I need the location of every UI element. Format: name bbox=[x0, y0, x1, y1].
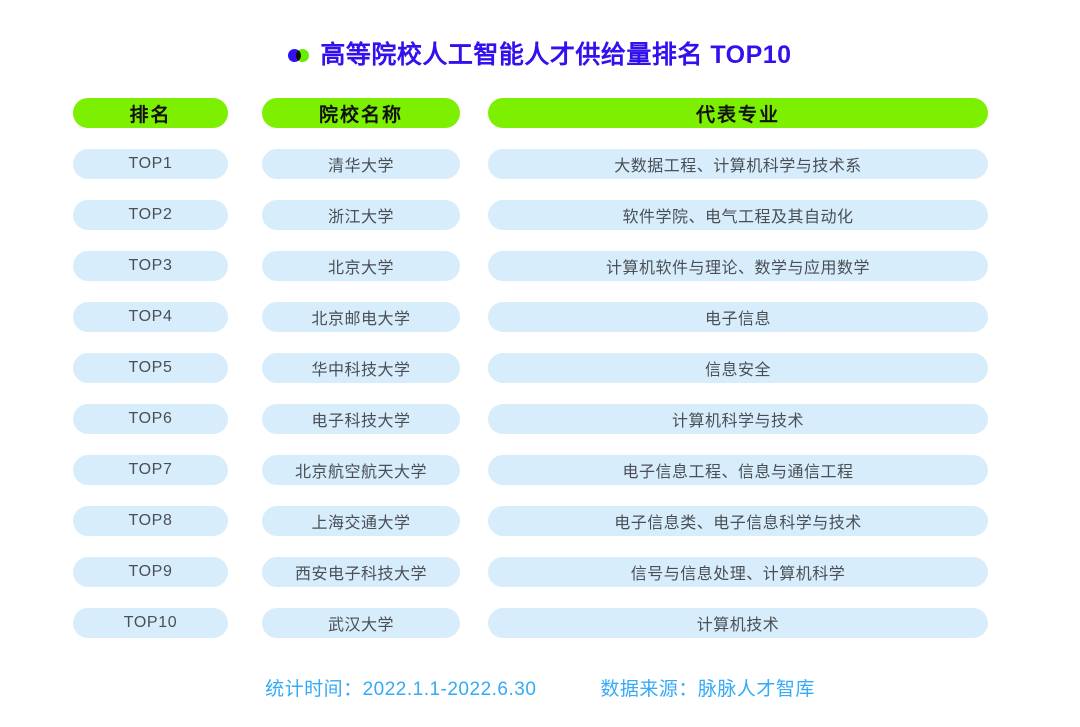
table-row: TOP9 西安电子科技大学 信号与信息处理、计算机科学 bbox=[0, 557, 1080, 587]
table-row: TOP4 北京邮电大学 电子信息 bbox=[0, 302, 1080, 332]
infographic-page: 高等院校人工智能人才供给量排名 TOP10 排名 院校名称 代表专业 TOP1 … bbox=[0, 0, 1080, 727]
cell-major: 电子信息 bbox=[488, 302, 988, 332]
table-row: TOP6 电子科技大学 计算机科学与技术 bbox=[0, 404, 1080, 434]
column-header-school: 院校名称 bbox=[262, 98, 460, 128]
table-row: TOP3 北京大学 计算机软件与理论、数学与应用数学 bbox=[0, 251, 1080, 281]
cell-school: 武汉大学 bbox=[262, 608, 460, 638]
cell-school: 上海交通大学 bbox=[262, 506, 460, 536]
cell-school: 清华大学 bbox=[262, 149, 460, 179]
cell-rank: TOP8 bbox=[73, 506, 228, 536]
ranking-table: 排名 院校名称 代表专业 TOP1 清华大学 大数据工程、计算机科学与技术系 T… bbox=[0, 98, 1080, 638]
cell-rank: TOP10 bbox=[73, 608, 228, 638]
footer-stat-time: 统计时间：2022.1.1-2022.6.30 bbox=[265, 680, 536, 699]
table-row: TOP2 浙江大学 软件学院、电气工程及其自动化 bbox=[0, 200, 1080, 230]
cell-major: 计算机技术 bbox=[488, 608, 988, 638]
table-row: TOP8 上海交通大学 电子信息类、电子信息科学与技术 bbox=[0, 506, 1080, 536]
page-title-text: 高等院校人工智能人才供给量排名 TOP10 bbox=[320, 43, 791, 68]
cell-rank: TOP7 bbox=[73, 455, 228, 485]
cell-school: 北京大学 bbox=[262, 251, 460, 281]
column-header-major: 代表专业 bbox=[488, 98, 988, 128]
column-header-rank: 排名 bbox=[73, 98, 228, 128]
cell-major: 信号与信息处理、计算机科学 bbox=[488, 557, 988, 587]
cell-rank: TOP3 bbox=[73, 251, 228, 281]
cell-major: 计算机软件与理论、数学与应用数学 bbox=[488, 251, 988, 281]
cell-school: 西安电子科技大学 bbox=[262, 557, 460, 587]
two-dots-icon bbox=[288, 49, 310, 62]
cell-rank: TOP5 bbox=[73, 353, 228, 383]
footer-data-source: 数据来源：脉脉人才智库 bbox=[600, 680, 815, 699]
page-title: 高等院校人工智能人才供给量排名 TOP10 bbox=[0, 43, 1080, 68]
table-row: TOP7 北京航空航天大学 电子信息工程、信息与通信工程 bbox=[0, 455, 1080, 485]
cell-rank: TOP1 bbox=[73, 149, 228, 179]
table-header-row: 排名 院校名称 代表专业 bbox=[0, 98, 1080, 128]
table-row: TOP10 武汉大学 计算机技术 bbox=[0, 608, 1080, 638]
table-row: TOP1 清华大学 大数据工程、计算机科学与技术系 bbox=[0, 149, 1080, 179]
cell-major: 大数据工程、计算机科学与技术系 bbox=[488, 149, 988, 179]
cell-rank: TOP6 bbox=[73, 404, 228, 434]
footer: 统计时间：2022.1.1-2022.6.30 数据来源：脉脉人才智库 bbox=[0, 680, 1080, 699]
two-dots-icon-green bbox=[296, 49, 309, 62]
cell-rank: TOP4 bbox=[73, 302, 228, 332]
cell-rank: TOP2 bbox=[73, 200, 228, 230]
cell-major: 软件学院、电气工程及其自动化 bbox=[488, 200, 988, 230]
table-row: TOP5 华中科技大学 信息安全 bbox=[0, 353, 1080, 383]
cell-school: 北京航空航天大学 bbox=[262, 455, 460, 485]
cell-major: 信息安全 bbox=[488, 353, 988, 383]
cell-rank: TOP9 bbox=[73, 557, 228, 587]
cell-major: 电子信息工程、信息与通信工程 bbox=[488, 455, 988, 485]
cell-school: 浙江大学 bbox=[262, 200, 460, 230]
cell-major: 计算机科学与技术 bbox=[488, 404, 988, 434]
cell-school: 电子科技大学 bbox=[262, 404, 460, 434]
cell-major: 电子信息类、电子信息科学与技术 bbox=[488, 506, 988, 536]
cell-school: 北京邮电大学 bbox=[262, 302, 460, 332]
cell-school: 华中科技大学 bbox=[262, 353, 460, 383]
